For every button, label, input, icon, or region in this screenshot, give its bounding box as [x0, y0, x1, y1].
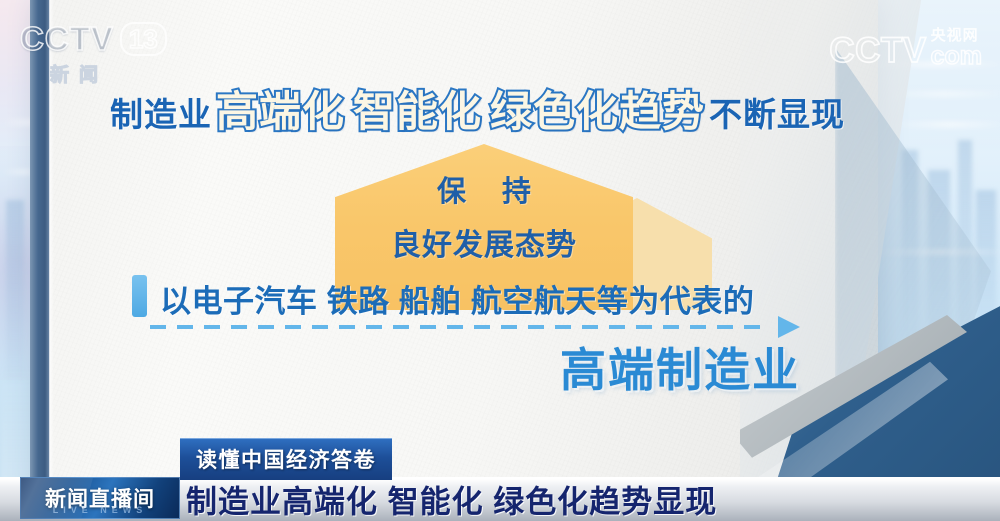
broadcast-frame: 制造业 高端化 智能化 绿色化趋势 不断显现 保 持 良好发展态势 以电子汽车 …: [0, 0, 1000, 521]
program-name-en: LIVE NEWS: [53, 505, 148, 515]
headline-part-2: 不断显现: [709, 88, 845, 136]
topic-banner: 读懂中国经济答卷: [180, 438, 392, 480]
feature-phrase: 高端制造业: [560, 334, 800, 400]
news-ticker-text: 制造业高端化 智能化 绿色化趋势显现: [186, 477, 717, 521]
headline-emphasis-2: 智能化: [353, 78, 482, 139]
graphic-content: 制造业 高端化 智能化 绿色化趋势 不断显现 保 持 良好发展态势 以电子汽车 …: [0, 0, 1000, 521]
headline-emphasis-1: 高端化: [216, 78, 345, 139]
program-logo-box: 新闻直播间 LIVE NEWS: [20, 477, 180, 519]
headline: 制造业 高端化 智能化 绿色化趋势 不断显现: [110, 78, 845, 139]
arrow-label-line-1: 保 持: [335, 168, 633, 210]
arrow-label-group: 保 持 良好发展态势: [335, 168, 633, 264]
arrow-label-line-2: 良好发展态势: [335, 220, 633, 264]
subheading-text: 以电子汽车 铁路 船舶 航空航天等为代表的: [160, 276, 754, 321]
topic-banner-text: 读懂中国经济答卷: [196, 449, 376, 472]
headline-part-1: 制造业: [110, 88, 212, 136]
dashed-connector-line: [150, 325, 770, 329]
headline-emphasis-3: 绿色化趋势: [490, 78, 705, 139]
accent-bar: [132, 275, 147, 317]
